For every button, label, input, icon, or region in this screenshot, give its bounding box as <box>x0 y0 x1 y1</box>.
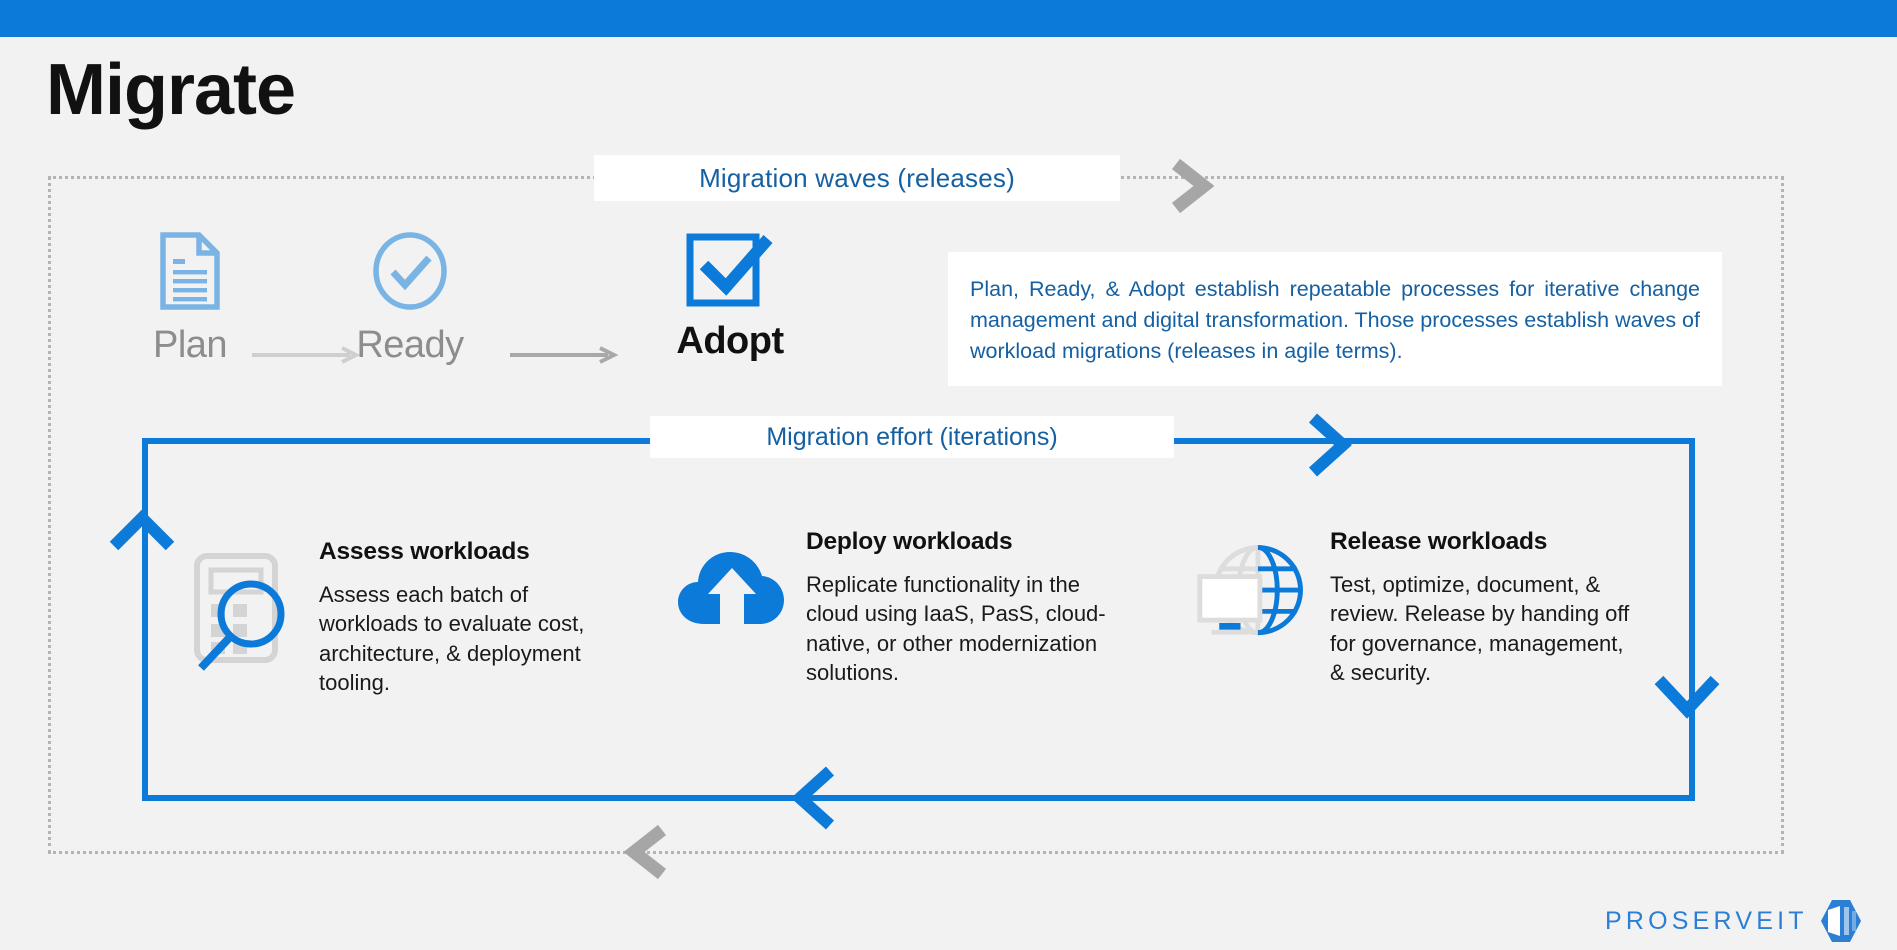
stage-arrow-2-icon <box>510 345 620 370</box>
logo-wordmark: PROSERVEIT <box>1605 907 1808 936</box>
workload-title-release: Release workloads <box>1330 528 1640 556</box>
workload-body-deploy: Replicate functionality in the cloud usi… <box>806 570 1122 687</box>
checkbox-check-icon <box>682 228 778 306</box>
stage-label-ready: Ready <box>356 324 463 367</box>
migration-effort-label: Migration effort (iterations) <box>650 416 1174 458</box>
loop-chevron-left-icon <box>788 765 838 836</box>
top-accent-bar <box>0 0 1897 37</box>
check-circle-icon <box>370 232 450 310</box>
page-title: Migrate <box>46 54 295 126</box>
globe-monitor-icon <box>1196 528 1316 648</box>
description-card: Plan, Ready, & Adopt establish repeatabl… <box>948 252 1722 386</box>
document-icon <box>157 232 223 310</box>
stage-label-plan: Plan <box>153 324 227 367</box>
stage-adopt: Adopt <box>640 228 820 363</box>
workload-card-assess: Assess workloads Assess each batch of wo… <box>185 538 635 697</box>
description-text: Plan, Ready, & Adopt establish repeatabl… <box>970 274 1700 368</box>
waves-chevron-right-icon <box>1168 156 1214 221</box>
loop-chevron-right-icon <box>1305 412 1355 483</box>
workload-body-assess: Assess each batch of workloads to evalua… <box>319 580 629 697</box>
workload-title-deploy: Deploy workloads <box>806 528 1122 556</box>
proserveit-logo: PROSERVEIT <box>1605 898 1862 944</box>
workload-title-assess: Assess workloads <box>319 538 629 566</box>
calculator-magnifier-icon <box>185 538 305 676</box>
stage-ready: Ready <box>330 232 490 367</box>
stage-plan: Plan <box>110 232 270 367</box>
stage-label-adopt: Adopt <box>676 320 783 363</box>
migration-waves-label: Migration waves (releases) <box>594 155 1120 201</box>
workload-card-deploy: Deploy workloads Replicate functionality… <box>672 528 1122 687</box>
workload-body-release: Test, optimize, document, & review. Rele… <box>1330 570 1640 687</box>
workload-card-release: Release workloads Test, optimize, docume… <box>1196 528 1666 687</box>
loop-chevron-up-icon <box>108 508 176 559</box>
waves-chevron-left-icon <box>624 822 670 887</box>
cloud-upload-icon <box>672 528 792 638</box>
hexagon-logo-icon <box>1820 898 1862 944</box>
infographic-canvas: Migrate Migration waves (releases) Plan <box>0 0 1897 950</box>
